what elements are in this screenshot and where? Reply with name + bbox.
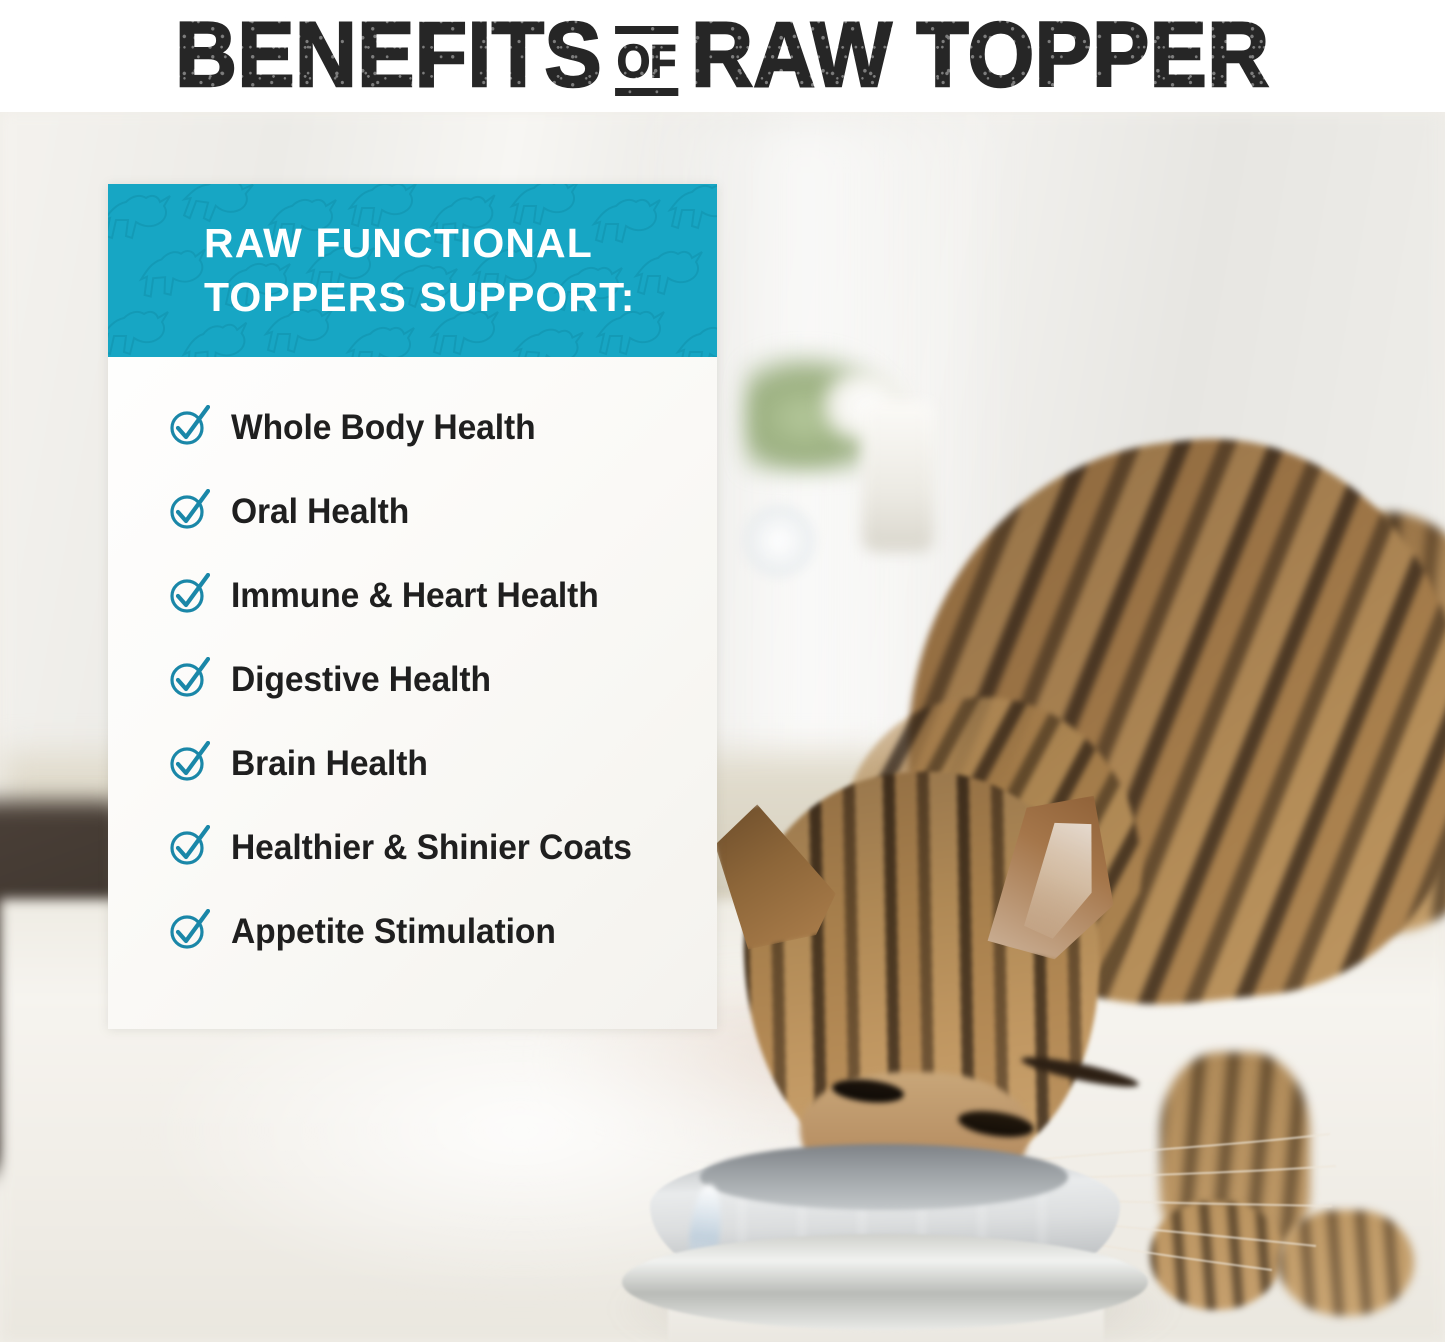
benefits-list: Whole Body Health Oral Health xyxy=(108,357,717,973)
check-circle-icon xyxy=(168,489,210,531)
bowl-interior xyxy=(700,1144,1068,1210)
title-word-raw-topper: RAW TOPPER xyxy=(691,12,1269,99)
list-item-label: Immune & Heart Health xyxy=(231,578,599,613)
card-header-text: RAW FUNCTIONAL TOPPERS SUPPORT: xyxy=(108,184,717,357)
title-of-rule-top xyxy=(615,26,678,34)
title-of-label: OF xyxy=(615,34,678,88)
photo-plant-pot xyxy=(862,402,934,552)
check-circle-icon xyxy=(168,405,210,447)
list-item: Whole Body Health xyxy=(108,385,717,469)
list-item-label: Healthier & Shinier Coats xyxy=(231,830,632,865)
page-title-text: BENEFITS OF RAW TOPPER xyxy=(175,12,1269,99)
list-item: Oral Health xyxy=(108,469,717,553)
list-item-label: Whole Body Health xyxy=(231,410,536,445)
check-circle-icon xyxy=(168,825,210,867)
promo-graphic: BENEFITS OF RAW TOPPER xyxy=(0,0,1445,1342)
title-of-rule-bottom xyxy=(615,88,678,96)
list-item-label: Appetite Stimulation xyxy=(231,914,556,949)
check-circle-icon xyxy=(168,573,210,615)
title-connector-of: OF xyxy=(615,26,678,96)
card-header-line-2: TOPPERS SUPPORT: xyxy=(204,271,717,324)
list-item: Digestive Health xyxy=(108,637,717,721)
page-title: BENEFITS OF RAW TOPPER xyxy=(0,0,1445,112)
list-item-label: Digestive Health xyxy=(231,662,491,697)
list-item-label: Brain Health xyxy=(231,746,428,781)
card-header-line-1: RAW FUNCTIONAL xyxy=(204,217,717,270)
card-header: RAW FUNCTIONAL TOPPERS SUPPORT: xyxy=(108,184,717,357)
bowl-rim xyxy=(622,1234,1148,1330)
check-circle-icon xyxy=(168,657,210,699)
photo-bokeh-circle xyxy=(742,504,816,578)
list-item: Healthier & Shinier Coats xyxy=(108,805,717,889)
list-item: Appetite Stimulation xyxy=(108,889,717,973)
list-item: Brain Health xyxy=(108,721,717,805)
title-word-benefits: BENEFITS xyxy=(175,12,602,99)
list-item-label: Oral Health xyxy=(231,494,409,529)
list-item: Immune & Heart Health xyxy=(108,553,717,637)
check-circle-icon xyxy=(168,741,210,783)
benefits-card: RAW FUNCTIONAL TOPPERS SUPPORT: Whole Bo… xyxy=(108,184,717,1029)
check-circle-icon xyxy=(168,909,210,951)
